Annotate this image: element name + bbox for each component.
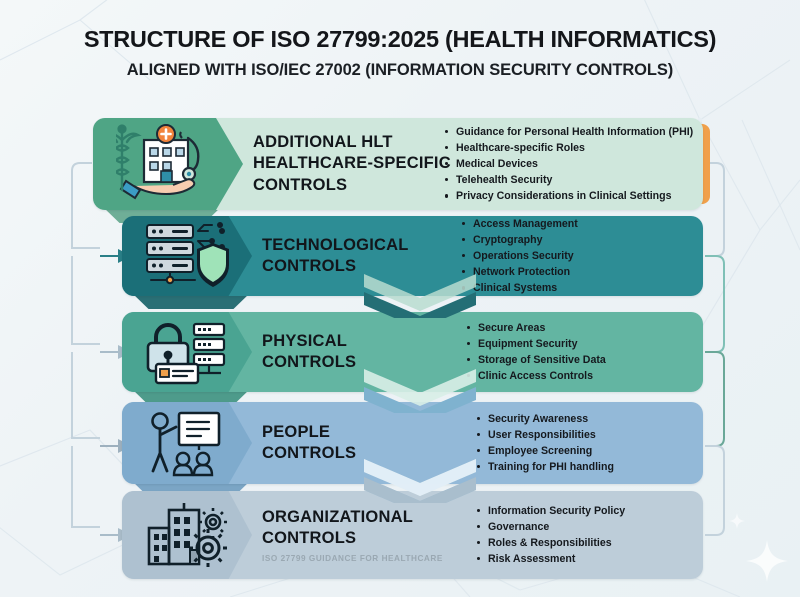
hospital-caduceus-hand-icon: [93, 118, 243, 210]
row-title-line: ORGANIZATIONAL: [262, 507, 492, 528]
row-people[interactable]: PEOPLE CONTROLS Security Awareness User …: [122, 402, 703, 484]
row-bullets: Access Management Cryptography Operation…: [462, 216, 689, 296]
header: STRUCTURE OF ISO 27799:2025 (HEALTH INFO…: [0, 26, 800, 80]
row-title-block: PHYSICAL CONTROLS: [262, 312, 462, 392]
list-item: Guidance for Personal Health Information…: [445, 124, 689, 140]
padlock-server-card-icon: [122, 312, 252, 392]
row-bullets: Secure Areas Equipment Security Storage …: [467, 312, 689, 392]
row-title-block: PEOPLE CONTROLS: [262, 402, 462, 484]
list-item: Secure Areas: [467, 320, 689, 336]
list-item: Clinical Systems: [462, 280, 689, 296]
list-item: Network Protection: [462, 264, 689, 280]
row-title-line: TECHNOLOGICAL: [262, 235, 462, 256]
row-title-line: PHYSICAL: [262, 331, 462, 352]
buildings-gears-icon: [122, 491, 252, 579]
list-item: Roles & Responsibilities: [477, 535, 689, 551]
row-additional-hlt[interactable]: ADDITIONAL HLT HEALTHCARE-SPECIFIC CONTR…: [93, 118, 703, 210]
row-title-line: PEOPLE: [262, 422, 462, 443]
list-item: Medical Devices: [445, 156, 689, 172]
list-item: Operations Security: [462, 248, 689, 264]
row-title-line: CONTROLS: [262, 256, 462, 277]
list-item: Healthcare-specific Roles: [445, 140, 689, 156]
row-title-line: CONTROLS: [262, 352, 462, 373]
server-shield-network-icon: [122, 216, 252, 296]
row-title-line: CONTROLS: [262, 528, 492, 549]
controls-stack: ADDITIONAL HLT HEALTHCARE-SPECIFIC CONTR…: [0, 0, 800, 597]
row-title-line: CONTROLS: [262, 443, 462, 464]
row-caption: ISO 27799 GUIDANCE FOR HEALTHCARE: [262, 554, 492, 563]
row-title-block: ADDITIONAL HLT HEALTHCARE-SPECIFIC CONTR…: [253, 118, 453, 210]
list-item: Security Awareness: [477, 411, 689, 427]
list-item: Training for PHI handling: [477, 459, 689, 475]
row-organizational[interactable]: ORGANIZATIONAL CONTROLS ISO 27799 GUIDAN…: [122, 491, 703, 579]
list-item: Clinic Access Controls: [467, 368, 689, 384]
row-title-block: ORGANIZATIONAL CONTROLS ISO 27799 GUIDAN…: [262, 491, 492, 579]
list-item: Equipment Security: [467, 336, 689, 352]
list-item: Employee Screening: [477, 443, 689, 459]
row-technological[interactable]: TECHNOLOGICAL CONTROLS Access Management…: [122, 216, 703, 296]
page-title: STRUCTURE OF ISO 27799:2025 (HEALTH INFO…: [0, 26, 800, 53]
row-title-line: CONTROLS: [253, 175, 453, 196]
row-bullets: Guidance for Personal Health Information…: [445, 118, 689, 210]
page-subtitle: ALIGNED WITH ISO/IEC 27002 (INFORMATION …: [0, 61, 800, 80]
list-item: Information Security Policy: [477, 503, 689, 519]
list-item: Telehealth Security: [445, 172, 689, 188]
list-item: Risk Assessment: [477, 551, 689, 567]
training-presenter-audience-icon: [122, 402, 252, 484]
row-bullets: Security Awareness User Responsibilities…: [477, 402, 689, 484]
row-title-line: ADDITIONAL HLT: [253, 132, 453, 153]
row-title-block: TECHNOLOGICAL CONTROLS: [262, 216, 462, 296]
list-item: User Responsibilities: [477, 427, 689, 443]
row-physical[interactable]: PHYSICAL CONTROLS Secure Areas Equipment…: [122, 312, 703, 392]
list-item: Governance: [477, 519, 689, 535]
list-item: Access Management: [462, 216, 689, 232]
list-item: Cryptography: [462, 232, 689, 248]
row-bullets: Information Security Policy Governance R…: [477, 491, 689, 579]
list-item: Privacy Considerations in Clinical Setti…: [445, 188, 689, 204]
list-item: Storage of Sensitive Data: [467, 352, 689, 368]
row-title-line: HEALTHCARE-SPECIFIC: [253, 153, 453, 174]
